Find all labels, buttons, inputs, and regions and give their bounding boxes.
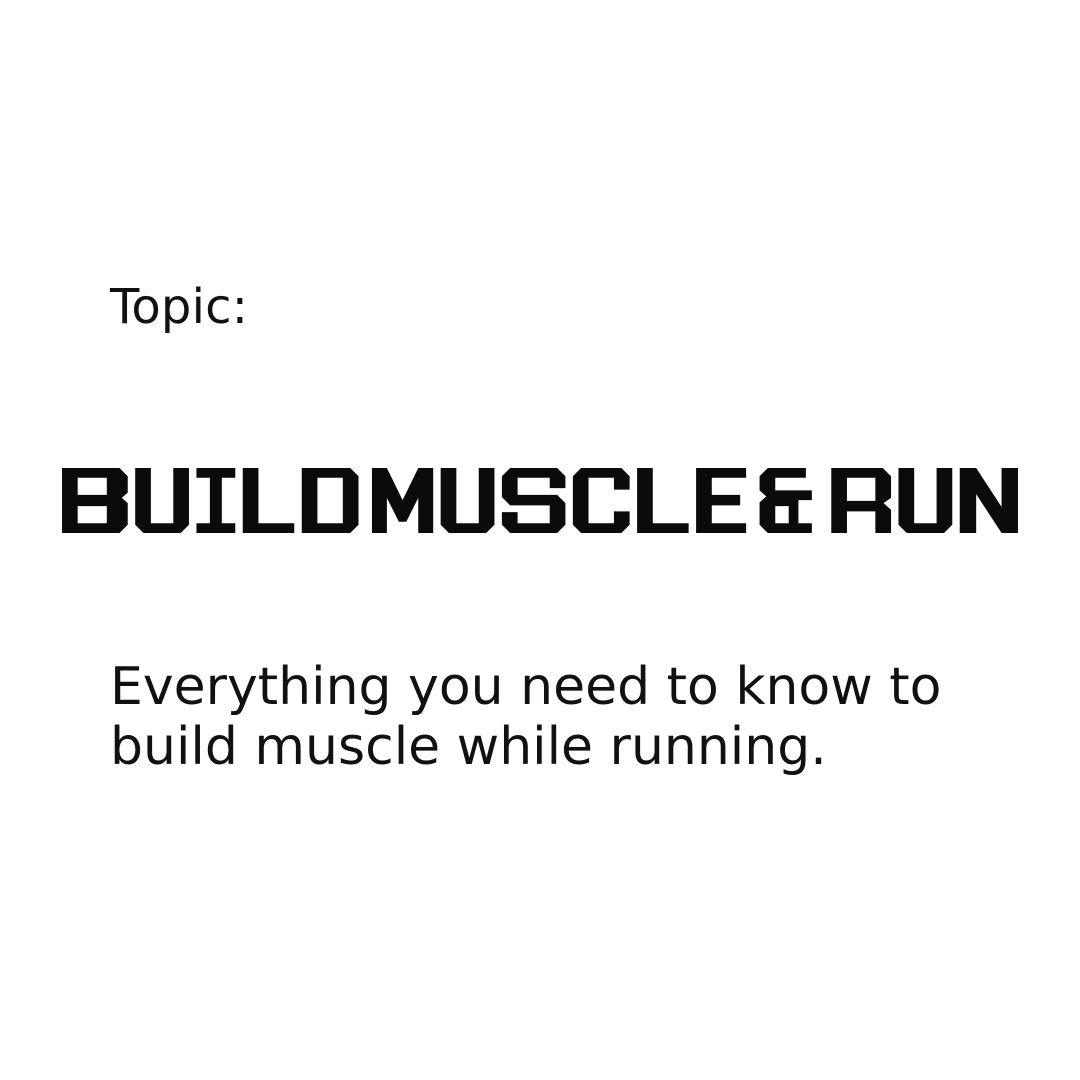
topic-label: Topic:: [110, 283, 248, 331]
headline: BUILD MUSCLE & RUN: [62, 457, 1018, 544]
body-line-2: build muscle while running.: [110, 717, 970, 777]
body-copy: Everything you need to know to build mus…: [110, 657, 970, 777]
headline-lettering: [62, 457, 1018, 544]
slide-canvas: Topic: BUILD MUSCLE & RUN Everything you…: [0, 0, 1080, 1080]
body-line-1: Everything you need to know to: [110, 657, 970, 717]
